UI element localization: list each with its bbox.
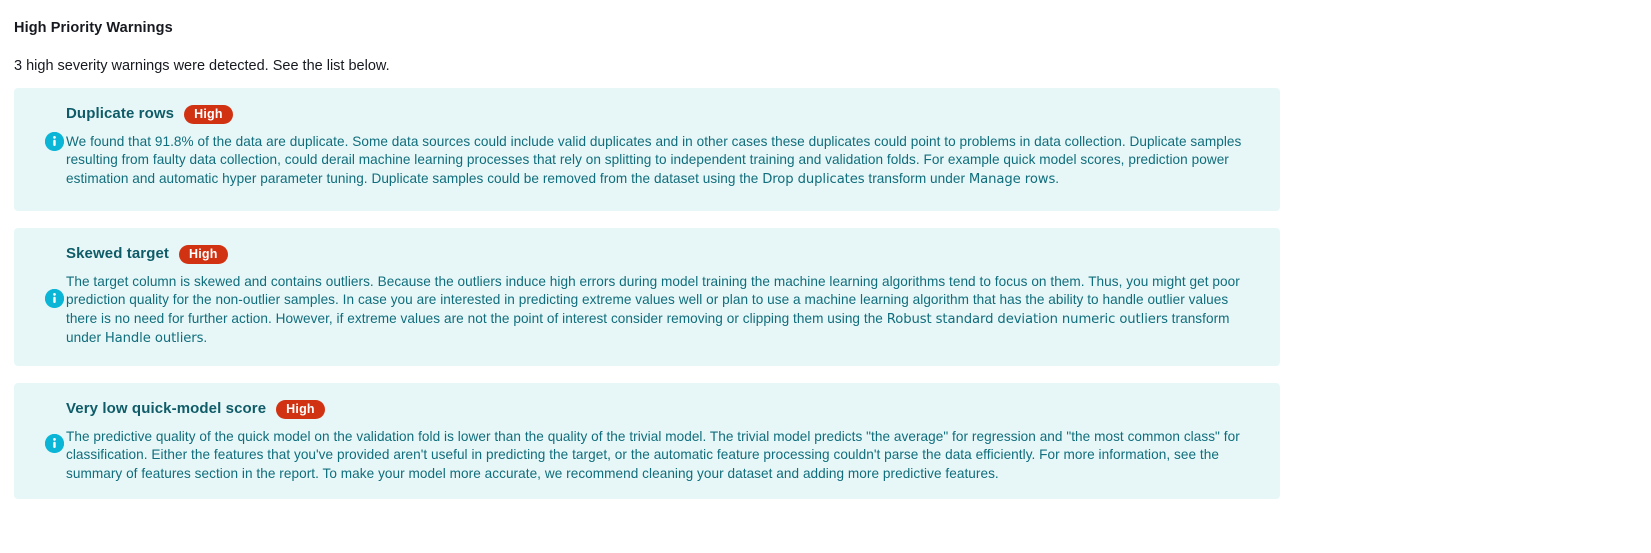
high-priority-warnings-page: High Priority Warnings 3 high severity w…: [0, 0, 1651, 553]
transform-name-robust-standard-deviation-numeric-outliers: Robust standard deviation numeric outlie…: [887, 312, 1168, 327]
status-badge: High: [179, 245, 228, 264]
warning-card-header: Very low quick-model score High: [66, 399, 1262, 419]
warning-description: We found that 91.8% of the data are dupl…: [66, 133, 1262, 189]
warning-card-header: Duplicate rows High: [66, 104, 1262, 124]
transform-group-handle-outliers: Handle outliers: [105, 331, 204, 346]
warning-card-duplicate-rows: Duplicate rows High We found that 91.8% …: [14, 88, 1280, 211]
page-title: High Priority Warnings: [14, 19, 173, 38]
warning-description: The predictive quality of the quick mode…: [66, 428, 1262, 483]
warning-description-text: We found that 91.8% of the data are dupl…: [66, 134, 1241, 186]
transform-name-drop-duplicates: Drop duplicates: [762, 172, 864, 187]
warning-card-very-low-quick-model-score: Very low quick-model score High The pred…: [14, 383, 1280, 499]
info-circle-icon: [45, 434, 64, 453]
info-circle-icon: [45, 289, 64, 308]
warning-description: The target column is skewed and contains…: [66, 273, 1262, 349]
warning-title: Duplicate rows: [66, 104, 174, 124]
warning-description-text-mid: transform under: [865, 171, 969, 186]
warning-title: Skewed target: [66, 244, 169, 264]
warning-card-header: Skewed target High: [66, 244, 1262, 264]
status-badge: High: [276, 400, 325, 419]
transform-group-manage-rows: Manage rows: [969, 172, 1055, 187]
warning-description-text-end: .: [1055, 171, 1059, 186]
warning-title: Very low quick-model score: [66, 399, 266, 419]
page-subtitle: 3 high severity warnings were detected. …: [14, 57, 390, 76]
status-badge: High: [184, 105, 233, 124]
warning-description-text-end: .: [203, 330, 207, 345]
info-circle-icon: [45, 132, 64, 151]
warning-card-skewed-target: Skewed target High The target column is …: [14, 228, 1280, 366]
warning-description-text: The predictive quality of the quick mode…: [66, 429, 1240, 481]
warning-card-list: Duplicate rows High We found that 91.8% …: [14, 88, 1280, 516]
